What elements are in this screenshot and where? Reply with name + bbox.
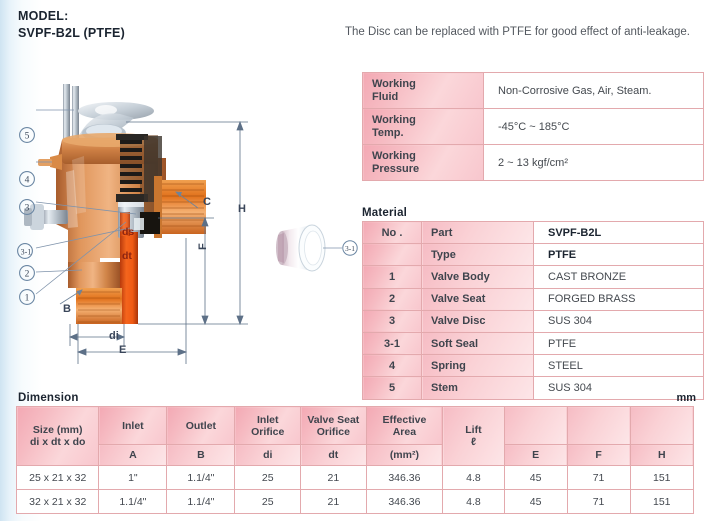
dim-header-effective-area-l1: Effective <box>369 414 441 426</box>
dim-subheader-area: (mm²) <box>366 445 443 466</box>
dimension-unit-label: mm <box>676 392 696 404</box>
valve-cutaway-figure <box>8 62 266 387</box>
dim-label-F: F <box>197 243 209 250</box>
dim-label-di: di <box>109 330 119 342</box>
dim-header-blank-f <box>567 407 630 445</box>
valve-illustration <box>8 62 266 387</box>
material-row-2-value: SUS 304 <box>534 310 704 332</box>
dim-subheader-A: A <box>99 445 167 466</box>
callout-marker-3-1: 3-1 <box>16 242 40 265</box>
table-row: 25 x 21 x 32 1" 1.1/4" 25 21 346.36 4.8 … <box>17 466 694 490</box>
table-row: Working Pressure 2 ~ 13 kgf/cm² <box>363 145 704 181</box>
wc-label-temp: Working Temp. <box>363 109 484 145</box>
dim-header-seat-orifice: Valve Seat Orifice <box>301 407 367 445</box>
dim-label-E: E <box>119 344 126 356</box>
dim-label-ds: ds <box>122 226 134 238</box>
material-header-no: No . <box>363 222 422 244</box>
dim-row-0-area: 346.36 <box>366 466 443 490</box>
material-row-0-part: Valve Body <box>422 266 534 288</box>
dim-header-size-l2: di x dt x do <box>19 436 96 448</box>
dim-label-B: B <box>63 303 71 315</box>
dim-row-1-lift: 4.8 <box>443 490 504 514</box>
model-label: MODEL: <box>18 8 125 25</box>
dim-row-1-F: 71 <box>567 490 630 514</box>
svg-text:3: 3 <box>25 204 30 214</box>
wc-label-fluid-l1: Working <box>372 78 477 91</box>
wc-label-temp-l1: Working <box>372 114 477 127</box>
working-conditions-table: Working Fluid Non-Corrosive Gas, Air, St… <box>362 72 704 181</box>
callout-marker-3: 3 <box>18 198 36 221</box>
dim-row-1-H: 151 <box>630 490 693 514</box>
wc-label-pressure: Working Pressure <box>363 145 484 181</box>
material-table: No . Part SVPF-B2L Type PTFE 1 Valve Bod… <box>362 221 704 400</box>
material-row-4-value: STEEL <box>534 355 704 377</box>
dim-subheader-H: H <box>630 445 693 466</box>
table-row: 3-1 Soft Seal PTFE <box>363 332 704 354</box>
callout-marker-1: 1 <box>18 288 36 311</box>
dim-header-outlet: Outlet <box>167 407 235 445</box>
material-header-model: SVPF-B2L <box>534 222 704 244</box>
dim-header-size: Size (mm) di x dt x do <box>17 407 99 466</box>
material-row-1-value: FORGED BRASS <box>534 288 704 310</box>
table-header-row: No . Part SVPF-B2L <box>363 222 704 244</box>
svg-text:2: 2 <box>25 270 30 280</box>
material-row-5-no: 5 <box>363 377 422 399</box>
dim-header-blank-h <box>630 407 693 445</box>
material-row-0-no: 1 <box>363 266 422 288</box>
dim-subheader-E: E <box>504 445 567 466</box>
dim-row-1-A: 1.1/4" <box>99 490 167 514</box>
table-row: 2 Valve Seat FORGED BRASS <box>363 288 704 310</box>
dim-header-inlet-orifice: Inlet Orifice <box>235 407 301 445</box>
wc-value-pressure: 2 ~ 13 kgf/cm² <box>484 145 704 181</box>
datasheet-page: MODEL: SVPF-B2L (PTFE) The Disc can be r… <box>0 0 710 521</box>
dim-row-0-dt: 21 <box>301 466 367 490</box>
callout-marker-4: 4 <box>18 170 36 193</box>
ring-illustration: 3-1 <box>268 215 363 285</box>
dim-header-lift: Lift ℓ <box>443 407 504 466</box>
wc-value-fluid: Non-Corrosive Gas, Air, Steam. <box>484 73 704 109</box>
dim-row-1-area: 346.36 <box>366 490 443 514</box>
dim-header-inlet-orifice-l2: Orifice <box>237 426 298 438</box>
material-type-part: Type <box>422 244 534 266</box>
dim-header-seat-orifice-l2: Orifice <box>303 426 364 438</box>
wc-label-temp-l2: Temp. <box>372 127 477 140</box>
dim-row-0-size: 25 x 21 x 32 <box>17 466 99 490</box>
material-header-part: Part <box>422 222 534 244</box>
table-header-row-top: Size (mm) di x dt x do Inlet Outlet Inle… <box>17 407 694 445</box>
dim-label-H: H <box>238 203 246 215</box>
table-row: Type PTFE <box>363 244 704 266</box>
table-row: 32 x 21 x 32 1.1/4" 1.1/4" 25 21 346.36 … <box>17 490 694 514</box>
table-row: 1 Valve Body CAST BRONZE <box>363 266 704 288</box>
dim-subheader-dt: dt <box>301 445 367 466</box>
dim-row-1-E: 45 <box>504 490 567 514</box>
table-row: Working Temp. -45°C ~ 185°C <box>363 109 704 145</box>
table-row: 4 Spring STEEL <box>363 355 704 377</box>
dim-header-seat-orifice-l1: Valve Seat <box>303 414 364 426</box>
wc-label-pressure-l1: Working <box>372 150 477 163</box>
material-row-0-value: CAST BRONZE <box>534 266 704 288</box>
dim-header-inlet-orifice-l1: Inlet <box>237 414 298 426</box>
svg-text:4: 4 <box>25 176 30 186</box>
callout-marker-5: 5 <box>18 126 36 149</box>
dim-header-lift-l2: ℓ <box>445 436 501 448</box>
dim-header-effective-area: Effective Area <box>366 407 443 445</box>
material-row-3-value: PTFE <box>534 332 704 354</box>
table-row: 5 Stem SUS 304 <box>363 377 704 399</box>
dim-row-0-lift: 4.8 <box>443 466 504 490</box>
material-row-4-no: 4 <box>363 355 422 377</box>
dim-header-size-l1: Size (mm) <box>19 424 96 436</box>
dim-row-1-size: 32 x 21 x 32 <box>17 490 99 514</box>
dim-row-1-dt: 21 <box>301 490 367 514</box>
dim-row-1-B: 1.1/4" <box>167 490 235 514</box>
material-row-3-part: Soft Seal <box>422 332 534 354</box>
dim-subheader-di: di <box>235 445 301 466</box>
soft-seal-ring-figure: 3-1 <box>268 215 363 285</box>
model-block: MODEL: SVPF-B2L (PTFE) <box>18 8 125 42</box>
table-row: 3 Valve Disc SUS 304 <box>363 310 704 332</box>
material-row-3-no: 3-1 <box>363 332 422 354</box>
dimension-section-title: Dimension <box>18 392 79 404</box>
material-type-no <box>363 244 422 266</box>
dim-header-effective-area-l2: Area <box>369 426 441 438</box>
svg-text:5: 5 <box>25 132 30 142</box>
table-row: Working Fluid Non-Corrosive Gas, Air, St… <box>363 73 704 109</box>
wc-value-temp: -45°C ~ 185°C <box>484 109 704 145</box>
material-row-2-part: Valve Disc <box>422 310 534 332</box>
subtitle-note: The Disc can be replaced with PTFE for g… <box>345 26 705 38</box>
dim-row-0-F: 71 <box>567 466 630 490</box>
dim-header-blank-e <box>504 407 567 445</box>
dim-row-0-E: 45 <box>504 466 567 490</box>
material-type-value: PTFE <box>534 244 704 266</box>
svg-text:1: 1 <box>25 294 30 304</box>
dim-subheader-B: B <box>167 445 235 466</box>
material-row-5-part: Stem <box>422 377 534 399</box>
callout-marker-2: 2 <box>18 264 36 287</box>
material-row-1-part: Valve Seat <box>422 288 534 310</box>
ring-callout-label: 3-1 <box>345 244 355 253</box>
wc-label-pressure-l2: Pressure <box>372 163 477 176</box>
wc-label-fluid-l2: Fluid <box>372 91 477 104</box>
material-row-4-part: Spring <box>422 355 534 377</box>
dim-header-inlet: Inlet <box>99 407 167 445</box>
dim-row-0-B: 1.1/4" <box>167 466 235 490</box>
model-value: SVPF-B2L (PTFE) <box>18 25 125 42</box>
dim-subheader-F: F <box>567 445 630 466</box>
dim-row-0-H: 151 <box>630 466 693 490</box>
dim-row-0-di: 25 <box>235 466 301 490</box>
material-section-title: Material <box>362 207 407 219</box>
dim-row-0-A: 1" <box>99 466 167 490</box>
svg-text:3-1: 3-1 <box>21 247 32 256</box>
dim-label-dt: dt <box>122 250 132 262</box>
wc-label-fluid: Working Fluid <box>363 73 484 109</box>
material-row-2-no: 3 <box>363 310 422 332</box>
dimension-table: Size (mm) di x dt x do Inlet Outlet Inle… <box>16 406 694 514</box>
table-header-row-sub: A B di dt (mm²) E F H <box>17 445 694 466</box>
dim-label-C: C <box>203 196 211 208</box>
dim-row-1-di: 25 <box>235 490 301 514</box>
material-row-1-no: 2 <box>363 288 422 310</box>
dim-header-lift-l1: Lift <box>445 424 501 436</box>
